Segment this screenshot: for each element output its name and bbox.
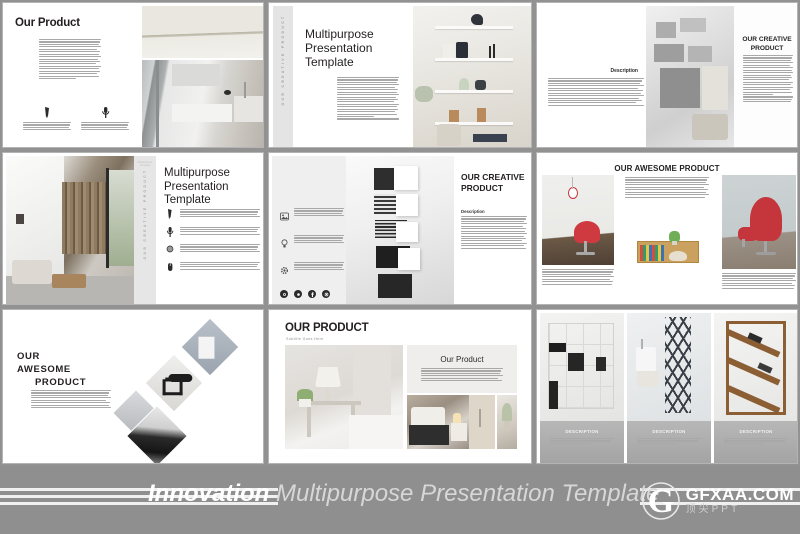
- product-panel-footer: DESCRIPTION: [540, 421, 624, 464]
- slide-7-body-text: [31, 390, 111, 410]
- photo-grey-shelves: [646, 6, 734, 148]
- title-line-3: Template: [305, 55, 354, 69]
- slide-3-body-text: [548, 78, 644, 107]
- description-label: DESCRIPTION: [627, 429, 711, 434]
- product-panel[interactable]: DESCRIPTION: [540, 313, 624, 464]
- pen-icon: [23, 107, 71, 118]
- slide-thumbnail-5[interactable]: OUR CREATIVE PRODUCT Description: [268, 152, 532, 305]
- slide-1-body-text: [39, 39, 101, 80]
- slide-3-text-panel: Description: [540, 6, 646, 148]
- title-line-3: PRODUCT: [17, 376, 86, 389]
- list-item: [164, 262, 260, 272]
- title-line-1: OUR CREATIVE: [742, 36, 791, 43]
- title-line-2: PRODUCT: [751, 45, 784, 52]
- product-panel-footer: DESCRIPTION: [627, 421, 711, 464]
- watermark-sub: 顶尖PPT: [686, 504, 794, 516]
- slide-4-side-band: OUR CREATIVE PRODUCT: [134, 156, 156, 305]
- list-item-text: [294, 208, 344, 226]
- photo-lattice-panel: [627, 313, 711, 421]
- photo-plant-corner: [497, 395, 517, 449]
- mouse-icon: [164, 262, 175, 272]
- slide-8-card-body: [421, 368, 503, 383]
- title-line-1: OUR: [17, 351, 40, 362]
- list-item-text: [180, 209, 260, 219]
- microphone-icon: [164, 227, 175, 237]
- slide-6-left-caption: [542, 269, 614, 286]
- title-line-3: Template: [164, 194, 211, 206]
- description-label: DESCRIPTION: [714, 429, 798, 434]
- slide-thumbnail-8[interactable]: OUR PRODUCT Subtitle Goes Here Our Produ…: [268, 309, 532, 464]
- list-item-text: [180, 244, 260, 254]
- feature-item: [81, 107, 129, 132]
- slide-6-body-text: [625, 177, 709, 199]
- description-text: [724, 438, 788, 445]
- photo-living-room-library: [6, 156, 134, 305]
- photo-shelving-unit: [413, 6, 532, 148]
- product-panel-footer: DESCRIPTION: [714, 421, 798, 464]
- slide-3-heading: Description: [610, 68, 638, 74]
- slide-thumbnail-7[interactable]: OUR AWESOME PRODUCT: [2, 309, 264, 464]
- slide-thumbnail-1[interactable]: Our Product: [2, 2, 264, 148]
- slide-5-description-heading: Description: [461, 209, 485, 214]
- list-item: [164, 209, 260, 219]
- slide-6-title: OUR AWESOME PRODUCT: [537, 164, 797, 173]
- slide-5-left-panel: [272, 156, 346, 305]
- slide-3-right-title: OUR CREATIVE PRODUCT: [737, 35, 797, 53]
- product-panel[interactable]: DESCRIPTION: [627, 313, 711, 464]
- photo-bedside-lamp: [285, 345, 403, 449]
- photo-bedroom: [407, 395, 495, 449]
- slide-8-subtitle: Subtitle Goes Here: [286, 337, 324, 341]
- slide-8-card-title: Our Product: [407, 355, 517, 364]
- feature-caption: [23, 122, 71, 130]
- image-icon: [280, 208, 290, 226]
- slide-thumbnail-4[interactable]: OUR CREATIVE PRODUCT Multipurpose Templa…: [2, 152, 264, 305]
- slide-5-description-body: [461, 216, 527, 250]
- slide-8-title: OUR PRODUCT: [285, 322, 368, 334]
- title-line-2: Presentation: [164, 181, 229, 193]
- slide-5-feature-list: [280, 208, 344, 289]
- gfxaa-logo-icon: G: [640, 480, 682, 522]
- feature-caption: [81, 122, 129, 130]
- title-line-1: Multipurpose: [164, 167, 230, 179]
- slide-5-title: OUR CREATIVE PRODUCT: [461, 172, 531, 193]
- photo-red-egg-chair: [722, 175, 796, 269]
- slide-1-title: Our Product: [15, 17, 80, 29]
- slide-2-side-band: OUR CREATIVE PRODUCT: [273, 6, 293, 148]
- list-item-text: [294, 235, 344, 253]
- list-item-text: [180, 262, 260, 272]
- slide-2-vertical-label: OUR CREATIVE PRODUCT: [281, 8, 285, 112]
- description-label: DESCRIPTION: [540, 429, 624, 434]
- title-line-2: PRODUCT: [461, 183, 503, 193]
- slide-thumbnail-3[interactable]: Description OUR CREATIVE PRODUCT: [536, 2, 798, 148]
- slide-thumbnail-2[interactable]: OUR CREATIVE PRODUCT Multipurpose Presen…: [268, 2, 532, 148]
- photo-kitchen: [142, 60, 264, 148]
- list-item: [280, 235, 344, 253]
- facebook-icon[interactable]: [308, 290, 316, 298]
- description-text: [550, 438, 614, 445]
- title-line-1: OUR CREATIVE: [461, 172, 525, 182]
- photo-wooden-shelf: [637, 231, 699, 267]
- photo-grid-shelf: [540, 313, 624, 421]
- slide-3-right-body: [743, 55, 793, 104]
- list-item-text: [180, 227, 260, 237]
- watermark: G GFXAA.COM 顶尖PPT: [640, 480, 794, 522]
- microphone-icon: [81, 107, 129, 118]
- list-item: [280, 262, 344, 280]
- instagram-icon[interactable]: [322, 290, 330, 298]
- title-line-1: Multipurpose: [305, 27, 374, 41]
- slide-thumbnail-6[interactable]: OUR AWESOME PRODUCT: [536, 152, 798, 305]
- photo-wooden-bookshelf: [714, 313, 798, 421]
- slide-4-vertical-sub: Multipurpose Template: [136, 161, 154, 168]
- photo-ceiling-lamp: [142, 6, 264, 58]
- product-panel[interactable]: DESCRIPTION: [714, 313, 798, 464]
- photo-modular-bookshelf: [346, 156, 454, 305]
- slide-grid: Our Product: [0, 0, 800, 466]
- slide-7-title: OUR AWESOME PRODUCT: [17, 350, 137, 389]
- slide-1-feature-row: [23, 107, 131, 132]
- list-item: [280, 208, 344, 226]
- title-line-2: AWESOME: [17, 364, 71, 375]
- slide-4-title: Multipurpose Presentation Template: [164, 167, 260, 208]
- slide-4-feature-list: [164, 209, 260, 279]
- slide-1-text-panel: Our Product: [3, 3, 136, 139]
- svg-text:G: G: [647, 483, 673, 520]
- watermark-domain: GFXAA.COM: [686, 486, 794, 504]
- footer-title-thin: Multipurpose Presentation Template: [269, 480, 659, 507]
- usb-icon: [164, 244, 175, 254]
- feature-item: [23, 107, 71, 132]
- description-text: [637, 438, 701, 445]
- title-line-2: Presentation: [305, 41, 372, 55]
- pen-icon: [164, 209, 175, 219]
- slide-2-title: Multipurpose Presentation Template: [305, 27, 401, 69]
- social-links[interactable]: [280, 290, 330, 298]
- slide-6-right-caption: [722, 273, 796, 290]
- gear-icon: [280, 262, 290, 280]
- footer-banner: Innovation Multipurpose Presentation Tem…: [0, 466, 800, 534]
- photo-red-swan-chair: [542, 175, 614, 265]
- twitter-icon[interactable]: [280, 290, 288, 298]
- footer-title: Innovation Multipurpose Presentation Tem…: [148, 480, 659, 508]
- list-item: [164, 227, 260, 237]
- list-item: [164, 244, 260, 254]
- slide-4-vertical-label: OUR CREATIVE PRODUCT: [143, 159, 147, 269]
- slide-2-body-text: [337, 77, 399, 121]
- pinterest-icon[interactable]: [294, 290, 302, 298]
- list-item-text: [294, 262, 344, 280]
- lightbulb-icon: [280, 235, 290, 253]
- slide-thumbnail-9[interactable]: DESCRIPTION DESCRIPTION: [536, 309, 798, 464]
- footer-title-bold: Innovation: [148, 480, 269, 507]
